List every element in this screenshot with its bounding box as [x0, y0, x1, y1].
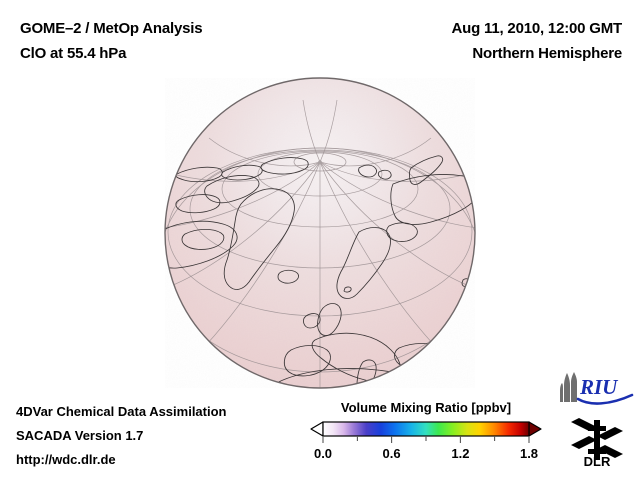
colorbar-tick-label: 1.2: [451, 446, 469, 461]
dlr-wordmark: DLR: [584, 454, 611, 468]
colorbar-bar: [323, 422, 529, 436]
header-datetime: Aug 11, 2010, 12:00 GMT: [452, 20, 622, 37]
globe-map: [163, 76, 477, 390]
riu-wordmark: RIU: [579, 375, 619, 399]
riu-tower-icon: [560, 372, 577, 402]
north-pole-marker: [318, 160, 322, 164]
dlr-logo: DLR: [566, 414, 628, 468]
visualization-canvas: GOME–2 / MetOp Analysis ClO at 55.4 hPa …: [0, 0, 640, 480]
colorbar-tick-label: 1.8: [520, 446, 538, 461]
colorbar-tick-label: 0.6: [383, 446, 401, 461]
header-region: Northern Hemisphere: [472, 45, 622, 62]
colorbar: Volume Mixing Ratio [ppbv] 0.00.61.21.8: [306, 400, 546, 470]
colorbar-ticks: [323, 436, 529, 443]
credit-method: 4DVar Chemical Data Assimilation: [16, 404, 227, 419]
header-instrument-title: GOME–2 / MetOp Analysis: [20, 20, 202, 37]
colorbar-gradient: [306, 420, 546, 446]
colorbar-tick-label: 0.0: [314, 446, 332, 461]
riu-logo: RIU: [558, 372, 634, 406]
header-species-level: ClO at 55.4 hPa: [20, 45, 126, 62]
colorbar-low-arrow: [311, 422, 323, 436]
colorbar-tick-labels: 0.00.61.21.8: [306, 446, 546, 466]
colorbar-title: Volume Mixing Ratio [ppbv]: [306, 400, 546, 415]
credit-url: http://wdc.dlr.de: [16, 452, 116, 467]
colorbar-high-arrow: [529, 422, 541, 436]
credit-version: SACADA Version 1.7: [16, 428, 143, 443]
